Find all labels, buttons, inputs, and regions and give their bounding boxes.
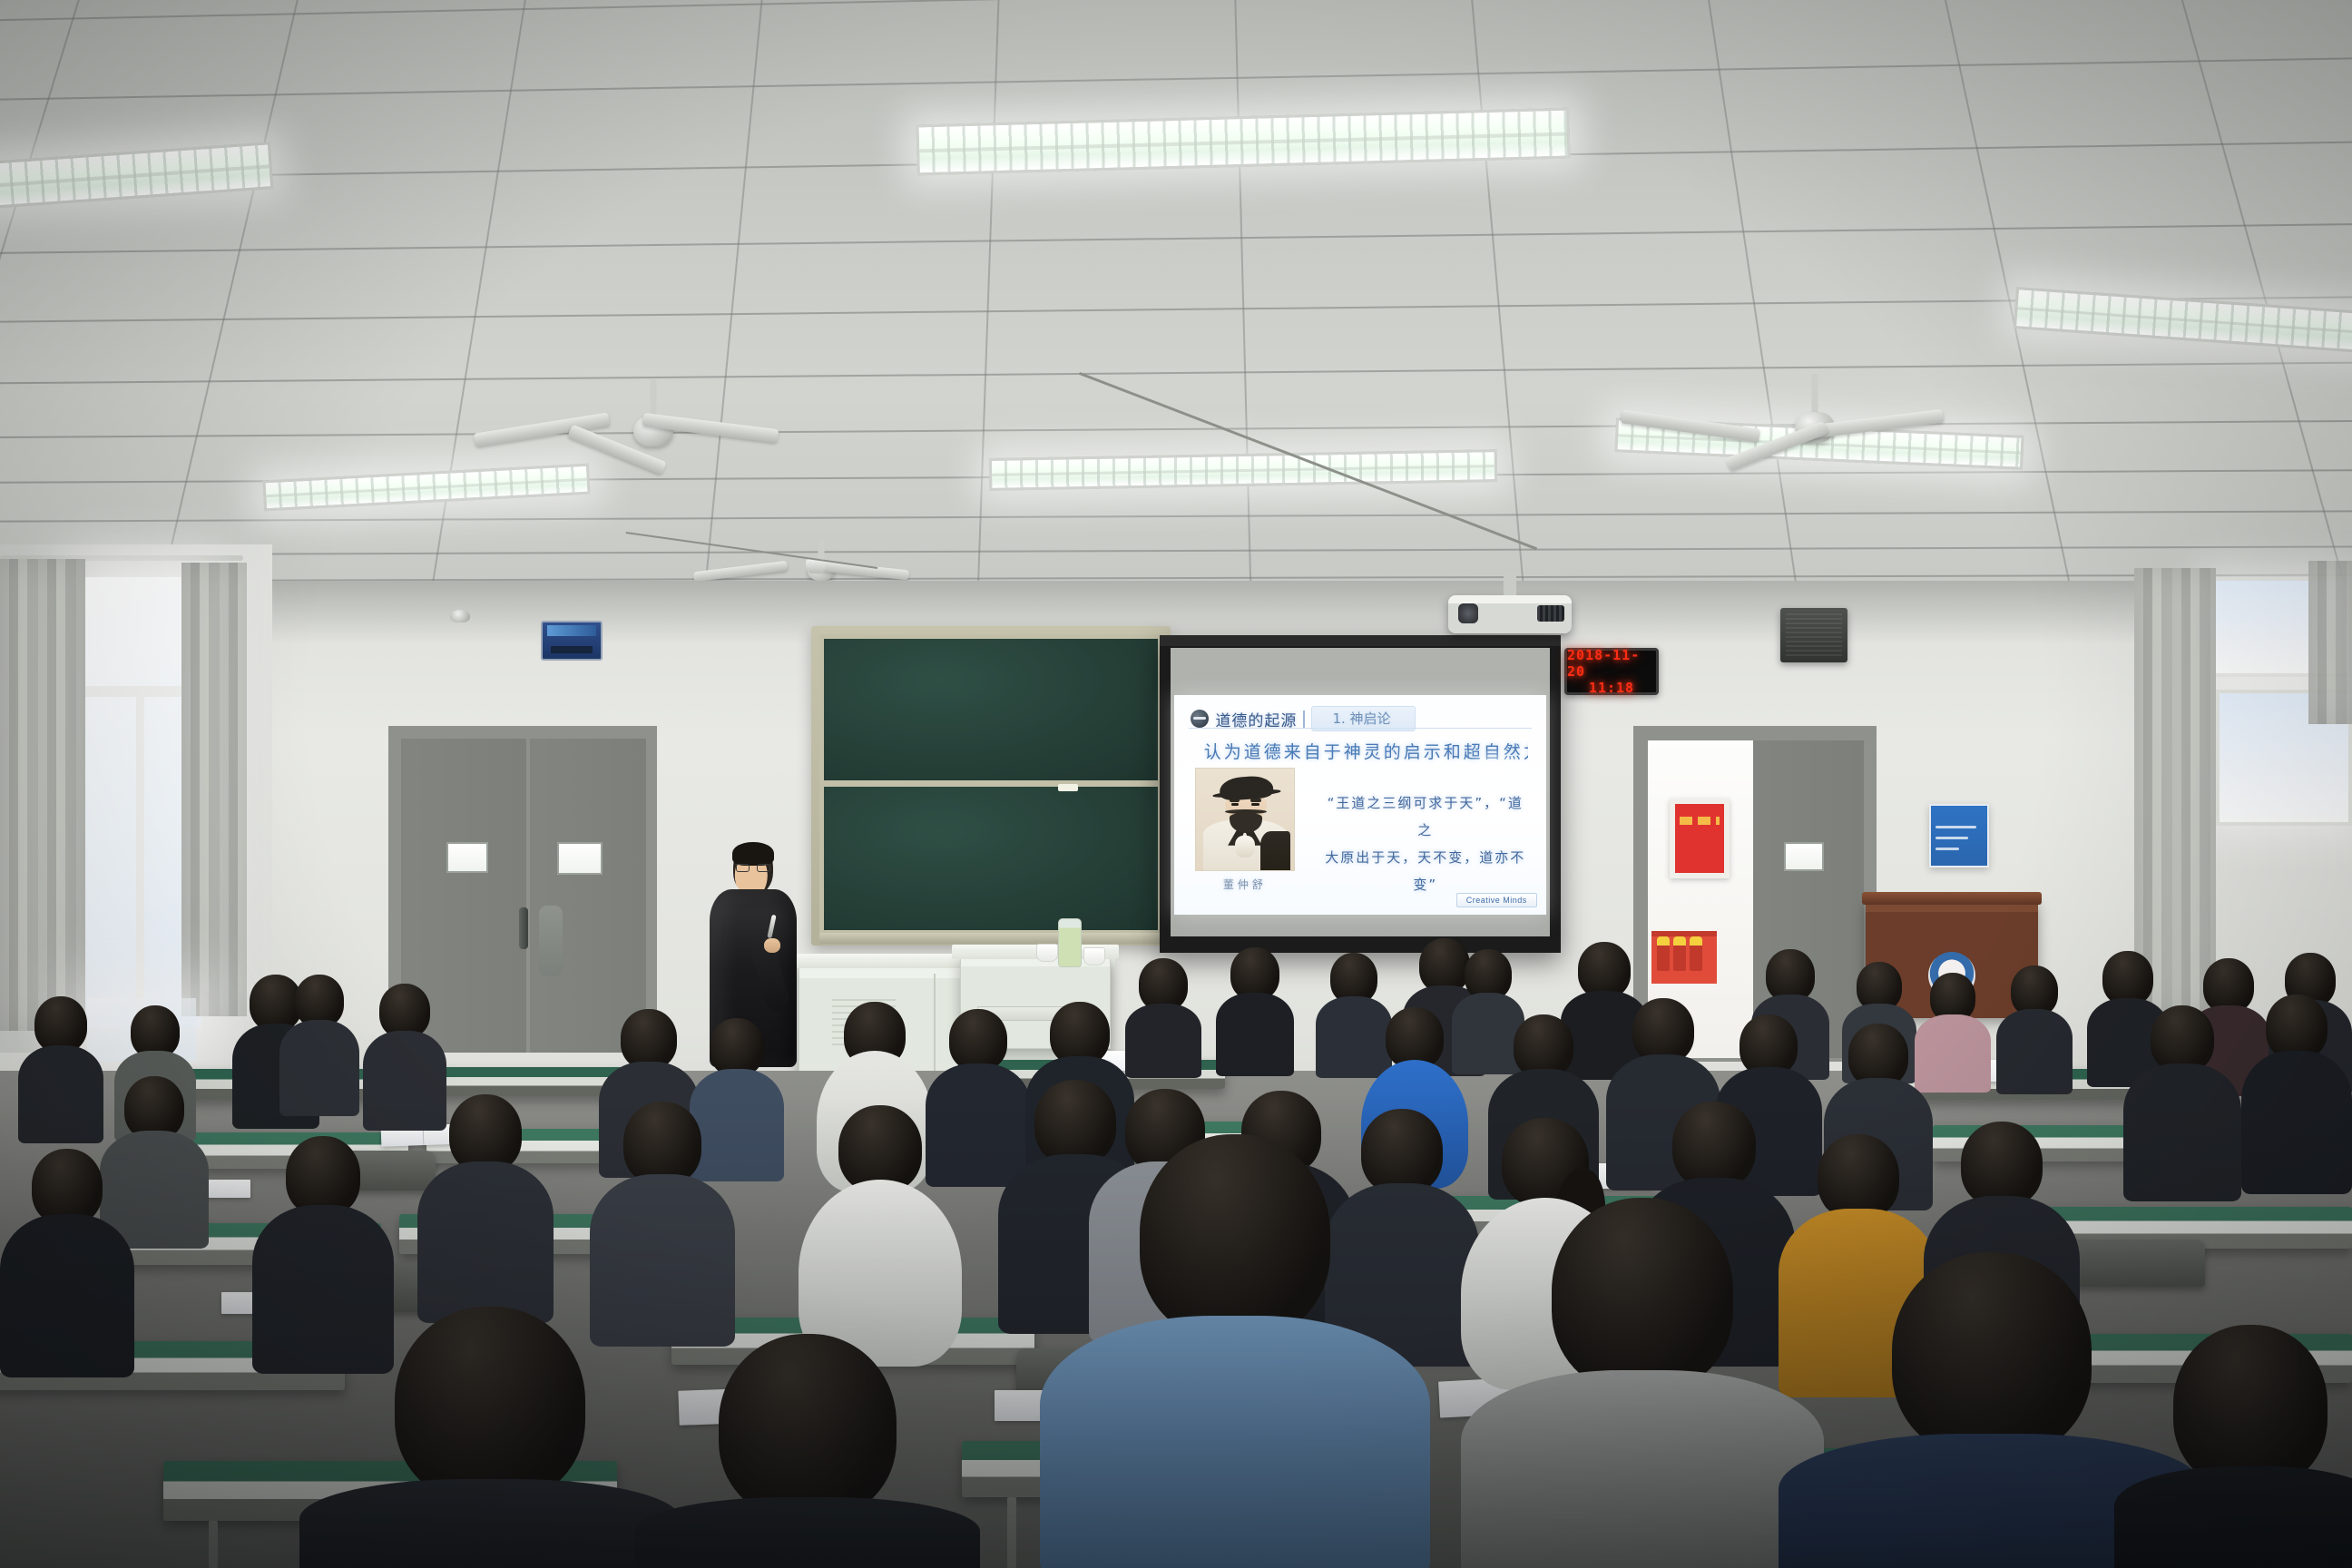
- student-body: [1996, 1009, 2073, 1094]
- student-head: [2151, 1005, 2214, 1073]
- student-l7: [0, 1149, 134, 1376]
- student-head: [395, 1307, 585, 1503]
- lecturer-glasses-icon: [736, 864, 770, 872]
- curtain-right-corner: [2308, 561, 2352, 724]
- slide-quote-line-2: 大原出于天，天不变，道亦不变”: [1323, 844, 1528, 898]
- wall-speaker: [1780, 608, 1847, 662]
- slide-header-rule: [1189, 728, 1531, 729]
- student-head: [719, 1334, 897, 1519]
- student-head: [1578, 942, 1631, 998]
- student-front-6-black: [2114, 1325, 2352, 1568]
- student-head: [379, 984, 430, 1038]
- portrait-sash: [1235, 836, 1255, 858]
- cup-left[interactable]: [1036, 944, 1058, 962]
- notice-line-3: [1935, 848, 1959, 850]
- projector-lens: [1458, 603, 1478, 623]
- portrait-hat: [1219, 775, 1273, 801]
- student-b10: [1996, 965, 2073, 1093]
- dome-camera-icon: [450, 610, 470, 622]
- student-body: [1461, 1370, 1824, 1568]
- screen-roller-bar: [1160, 635, 1561, 646]
- podium-top-surface: [1862, 892, 2042, 905]
- student-l1: [18, 996, 103, 1142]
- student-body: [299, 1479, 681, 1568]
- left-door-leaf-b[interactable]: [530, 739, 646, 1053]
- student-body: [18, 1045, 103, 1143]
- student-body: [0, 1214, 134, 1377]
- student-body: [2114, 1466, 2352, 1568]
- student-head: [1552, 1198, 1733, 1392]
- curtain-right: [181, 563, 247, 1016]
- cup-right[interactable]: [1083, 947, 1105, 965]
- student-head: [1140, 1134, 1330, 1339]
- slide-quote: “王道之三纲可求于天”，“道之 大原出于天，天不变，道亦不变”: [1323, 789, 1528, 898]
- student-body: [1040, 1316, 1430, 1568]
- student-head: [2173, 1325, 2327, 1488]
- desk-leg-1: [209, 1521, 218, 1568]
- portrait-image: [1195, 768, 1296, 871]
- projector-vent: [1537, 605, 1564, 622]
- classroom-photo: 道德的起源 1. 神启论 认为道德来自于神灵的启示和超自然力量的规定: [0, 0, 2352, 1568]
- notice-line-1: [1935, 826, 1976, 828]
- student-b1: [1125, 958, 1201, 1076]
- student-head: [286, 1136, 360, 1216]
- projector-mount: [1504, 572, 1516, 595]
- projection-screen-surface: 道德的起源 1. 神启论 认为道德来自于神灵的启示和超自然力量的规定: [1171, 648, 1550, 936]
- student-l4-glasses: [279, 975, 359, 1116]
- student-l9: [417, 1094, 554, 1321]
- led-clock-date: 2018-11-20: [1567, 647, 1656, 680]
- slide-logo-icon: [1191, 710, 1209, 728]
- student-body: [279, 1020, 359, 1116]
- left-door-window-b: [557, 842, 603, 875]
- suspended-ceiling: [0, 0, 2352, 635]
- desk-leg-3: [1007, 1497, 1016, 1568]
- fire-extinguisher-3: [1690, 936, 1702, 971]
- student-head: [2102, 951, 2153, 1005]
- fire-extinguisher-1: [1657, 936, 1670, 971]
- slide-subtitle: 认为道德来自于神灵的启示和超自然力量的规定: [1204, 739, 1528, 763]
- student-head: [1818, 1134, 1899, 1220]
- student-body: [417, 1161, 554, 1323]
- ceiling-fan-left: [544, 379, 762, 488]
- student-m11: [2123, 1005, 2241, 1201]
- window-mullion-vertical: [136, 695, 144, 1029]
- curtain-left: [0, 559, 85, 1031]
- slide-header-divider: [1303, 710, 1305, 728]
- led-clock: 2018-11-20 11:18: [1564, 648, 1659, 695]
- ceiling-fan-right: [1697, 374, 1933, 483]
- left-door-lock-plate[interactable]: [539, 906, 563, 976]
- corridor-poster: [1670, 799, 1730, 878]
- fire-extinguisher-cabinet: [1651, 931, 1717, 984]
- student-head: [1961, 1122, 2043, 1207]
- portrait-eye-right: [1251, 803, 1259, 806]
- blackboard-panel-upper: [819, 634, 1162, 785]
- student-head: [1892, 1252, 2092, 1457]
- notice-board: [1929, 804, 1989, 867]
- student-f2-white-hood: [799, 1105, 962, 1367]
- portrait-arm: [1260, 831, 1290, 869]
- student-head: [34, 996, 87, 1053]
- student-head: [949, 1009, 1007, 1071]
- poster-title-band: [1680, 817, 1719, 825]
- student-front-5-dark: [635, 1334, 980, 1568]
- student-head: [1672, 1102, 1756, 1189]
- portrait-caption: 董仲舒: [1195, 877, 1296, 892]
- notice-line-2: [1935, 837, 1968, 839]
- slide-quote-line-1: “王道之三纲可求于天”，“道之: [1323, 789, 1528, 844]
- ceiling-tile-grid: [0, 0, 2352, 635]
- slide-header-title: 道德的起源: [1215, 708, 1297, 730]
- led-clock-time: 11:18: [1589, 680, 1634, 696]
- student-body: [1216, 993, 1294, 1076]
- projection-screen-housing: 道德的起源 1. 神启论 认为道德来自于神灵的启示和超自然力量的规定: [1160, 635, 1561, 953]
- right-door-window: [1784, 842, 1824, 871]
- student-front-2-grey: [1461, 1198, 1824, 1568]
- student-head: [621, 1009, 677, 1069]
- wall-control-box[interactable]: [541, 621, 603, 661]
- lecturer-hand: [764, 938, 780, 953]
- slide-corner-badge: Creative Minds: [1456, 893, 1537, 907]
- student-body: [2241, 1051, 2352, 1194]
- left-door-handle[interactable]: [519, 907, 528, 949]
- chalk-piece[interactable]: [1058, 784, 1078, 791]
- student-b2: [1216, 947, 1294, 1074]
- student-body: [2123, 1063, 2241, 1201]
- left-door-window-a: [446, 842, 488, 873]
- presentation-slide: 道德的起源 1. 神启论 认为道德来自于神灵的启示和超自然力量的规定: [1174, 695, 1546, 915]
- lecturer-hair: [732, 842, 774, 866]
- student-front-1-blue: [1040, 1134, 1430, 1568]
- student-head: [623, 1102, 701, 1185]
- fire-extinguisher-2: [1673, 936, 1686, 971]
- portrait-eye-left: [1231, 803, 1240, 806]
- student-m12: [2241, 995, 2352, 1194]
- ceiling-projector: [1448, 595, 1572, 633]
- blackboard: [811, 626, 1171, 946]
- chalk-tray: [819, 933, 1162, 944]
- student-body: [1125, 1004, 1201, 1078]
- portrait-brow-right: [1250, 799, 1261, 801]
- student-body: [635, 1497, 980, 1568]
- water-bottle[interactable]: [1058, 918, 1082, 967]
- blackboard-panel-lower: [819, 782, 1162, 935]
- student-head: [710, 1018, 764, 1076]
- student-front-4-dark: [299, 1307, 681, 1568]
